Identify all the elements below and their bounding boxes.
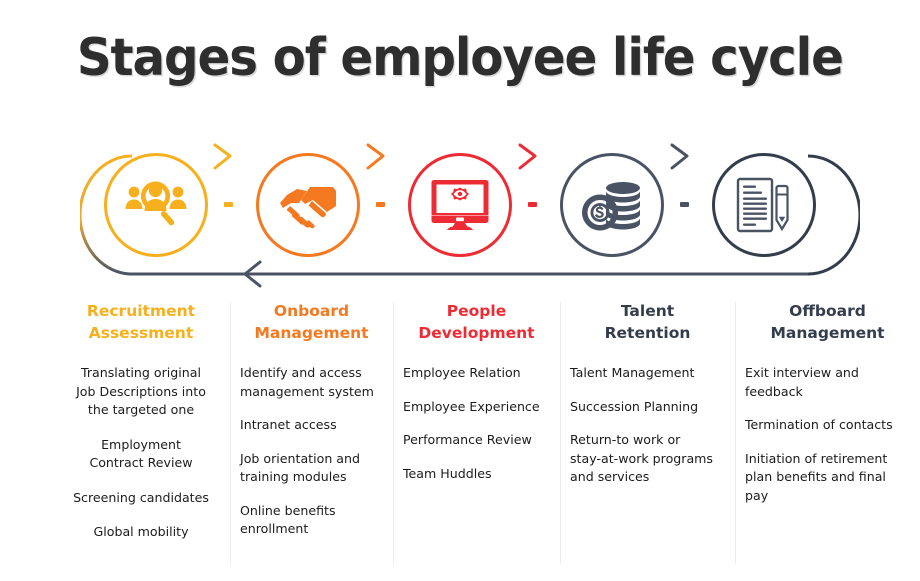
infographic-page: Stages of employee life cycle <box>0 0 920 581</box>
column-item: Performance Review <box>403 431 550 450</box>
column-item: Employment Contract Review <box>62 436 220 473</box>
document-pen-icon <box>735 176 793 234</box>
column-item: Return-to work or stay-at-work programs … <box>570 431 725 487</box>
column-item: Employee Relation <box>403 364 550 383</box>
separator-dash <box>528 202 537 207</box>
column-item: Intranet access <box>240 416 383 435</box>
column-recruitment-assessment: Recruitment Assessment Translating origi… <box>52 300 230 581</box>
stage-circle-offboard[interactable] <box>712 153 816 257</box>
column-item: Team Huddles <box>403 465 550 484</box>
column-talent-retention: Talent Retention Talent Management Succe… <box>560 300 735 581</box>
column-item: Talent Management <box>570 364 725 383</box>
column-item: Identify and access management system <box>240 364 383 401</box>
column-item: Translating original Job Descriptions in… <box>62 364 220 420</box>
title-container: Stages of employee life cycle <box>0 28 920 88</box>
column-title: Talent Retention <box>570 300 725 344</box>
stage-circle-people-development[interactable] <box>408 153 512 257</box>
people-search-icon <box>124 179 188 231</box>
column-item: Online benefits enrollment <box>240 502 383 539</box>
monitor-gear-icon <box>430 178 490 232</box>
column-item: Exit interview and feedback <box>745 364 910 401</box>
column-item: Succession Planning <box>570 398 725 417</box>
handshake-icon <box>277 181 339 229</box>
page-title: Stages of employee life cycle <box>77 28 843 88</box>
separator-dash <box>680 202 689 207</box>
column-title: Onboard Management <box>240 300 383 344</box>
stage-circle-talent-retention[interactable] <box>560 153 664 257</box>
stage-circle-onboard[interactable] <box>256 153 360 257</box>
separator-dash <box>224 202 233 207</box>
column-item: Initiation of retirement plan benefits a… <box>745 450 910 506</box>
column-item: Termination of contacts <box>745 416 910 435</box>
coins-dollar-icon <box>581 179 643 231</box>
column-item: Employee Experience <box>403 398 550 417</box>
column-title: Offboard Management <box>745 300 910 344</box>
column-people-development: People Development Employee Relation Emp… <box>393 300 560 581</box>
stage-circle-recruitment[interactable] <box>104 153 208 257</box>
track-right-cap <box>808 156 860 274</box>
column-item: Job orientation and training modules <box>240 450 383 487</box>
column-title: Recruitment Assessment <box>62 300 220 344</box>
lifecycle-diagram <box>80 140 860 290</box>
column-offboard-management: Offboard Management Exit interview and f… <box>735 300 920 581</box>
stage-details-columns: Recruitment Assessment Translating origi… <box>52 300 920 581</box>
column-title: People Development <box>403 300 550 344</box>
column-onboard-management: Onboard Management Identify and access m… <box>230 300 393 581</box>
column-item: Screening candidates <box>62 489 220 508</box>
column-item: Global mobility <box>62 523 220 542</box>
separator-dash <box>376 202 385 207</box>
